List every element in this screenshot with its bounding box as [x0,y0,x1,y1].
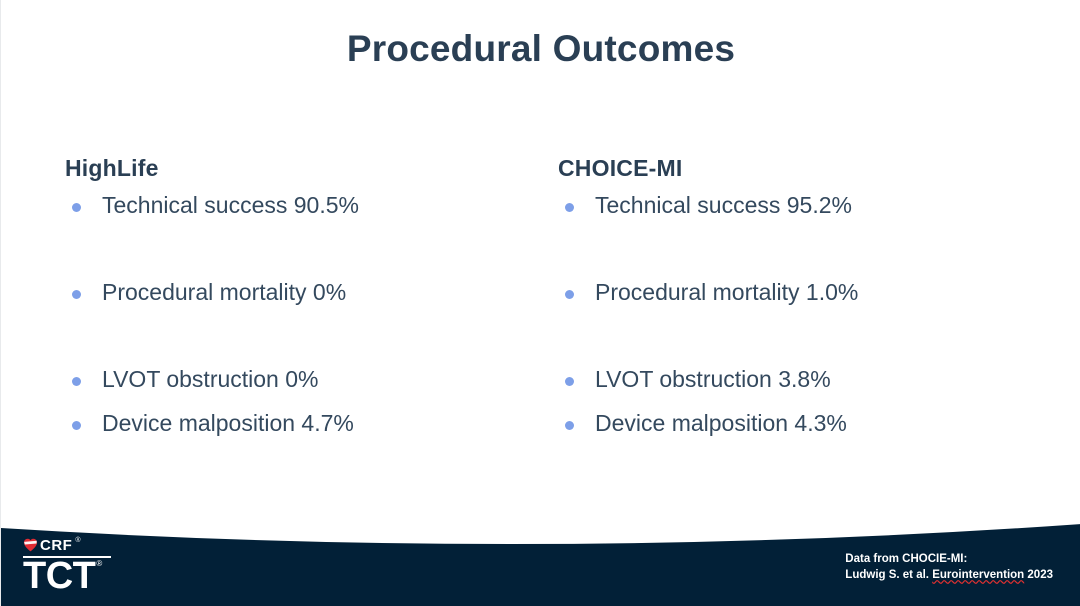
list-item-label: LVOT obstruction 0% [102,366,318,392]
list-item-label: Device malposition 4.3% [595,410,847,436]
list-item: Procedural mortality 1.0% [558,279,1028,306]
list-item: Device malposition 4.3% [558,410,1028,437]
list-item: Technical success 90.5% [65,192,535,219]
citation-authors: Ludwig S. et al. [845,569,932,581]
page-title: Procedural Outcomes [1,28,1080,70]
column-choice-mi: CHOICE-MI Technical success 95.2% Proced… [558,155,1028,438]
tct-logo: CRF ® TCT® [23,537,143,594]
column-heading: CHOICE-MI [558,155,1028,182]
footer: CRF ® TCT® Data from CHOCIE-MI: Ludwig S… [1,506,1080,606]
column-heading: HighLife [65,155,535,182]
bullet-list: Technical success 95.2% Procedural morta… [558,192,1028,438]
citation-year: 2023 [1024,569,1053,581]
bullet-dot-icon [72,290,81,299]
citation-journal: Eurointervention [932,569,1024,581]
list-item-label: Technical success 90.5% [102,192,359,218]
list-item-label: Device malposition 4.7% [102,410,354,436]
crf-logo-row: CRF ® [23,537,143,553]
list-item: LVOT obstruction 3.8% [558,366,1028,393]
citation-line-2: Ludwig S. et al. Eurointervention 2023 [845,567,1053,584]
tct-wordmark: TCT® [23,559,143,594]
list-item: Procedural mortality 0% [65,279,535,306]
citation-line-1: Data from CHOCIE-MI: [845,551,1053,568]
list-item: LVOT obstruction 0% [65,366,535,393]
source-citation: Data from CHOCIE-MI: Ludwig S. et al. Eu… [845,551,1053,584]
bullet-dot-icon [72,203,81,212]
list-item-label: Procedural mortality 1.0% [595,279,858,305]
bullet-dot-icon [565,290,574,299]
tct-registered-mark: ® [96,559,101,568]
crf-registered-mark: ® [75,537,80,544]
list-item-label: Technical success 95.2% [595,192,852,218]
slide: Procedural Outcomes HighLife Technical s… [0,0,1080,606]
list-item: Technical success 95.2% [558,192,1028,219]
bullet-dot-icon [565,421,574,430]
bullet-list: Technical success 90.5% Procedural morta… [65,192,535,438]
tct-wordmark-text: TCT [23,555,95,597]
list-item-label: LVOT obstruction 3.8% [595,366,831,392]
heart-icon [23,538,38,552]
bullet-dot-icon [565,203,574,212]
column-highlife: HighLife Technical success 90.5% Procedu… [65,155,535,438]
bullet-dot-icon [72,421,81,430]
list-item-label: Procedural mortality 0% [102,279,346,305]
list-item: Device malposition 4.7% [65,410,535,437]
bullet-dot-icon [72,377,81,386]
crf-wordmark: CRF [40,538,72,553]
bullet-dot-icon [565,377,574,386]
